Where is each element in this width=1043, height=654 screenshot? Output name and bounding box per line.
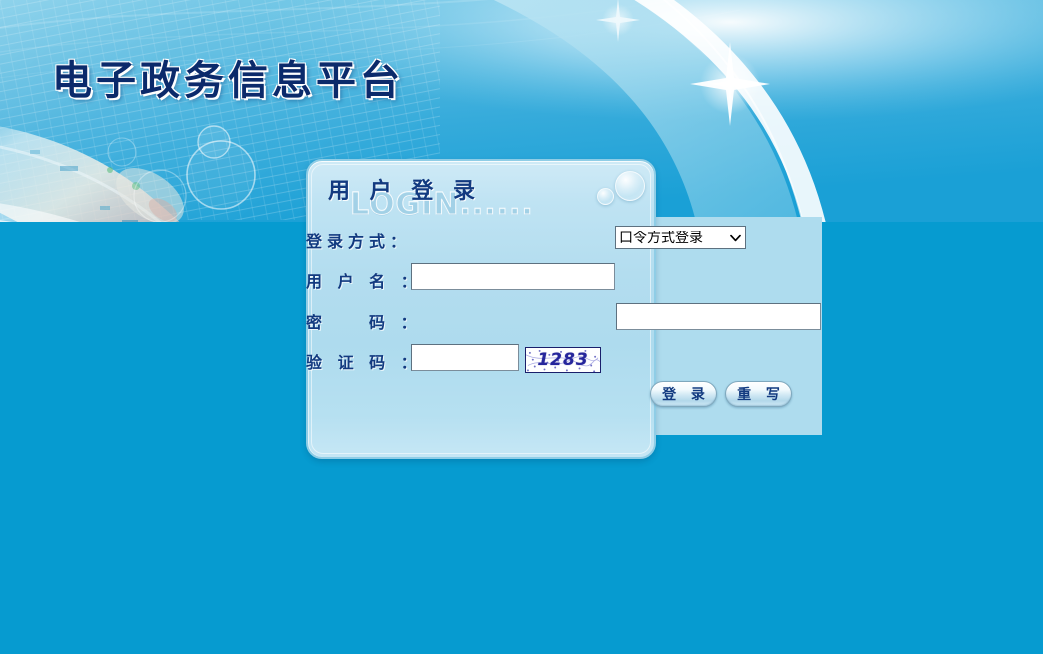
login-panel-title: 用 户 登 录 — [328, 173, 481, 205]
captcha-text: 1283 — [526, 348, 600, 372]
captcha-image[interactable]: 1283 — [525, 347, 601, 373]
page-title: 电子政务信息平台 — [52, 48, 404, 106]
login-panel-title-group: LOGIN...... 用 户 登 录 — [322, 171, 582, 219]
login-method-selected-value: 口令方式登录 — [619, 231, 729, 245]
bubble-icon-large — [615, 171, 645, 201]
login-method-select[interactable]: 口令方式登录 — [615, 226, 746, 249]
login-button[interactable]: 登 录 — [650, 381, 717, 407]
username-label: 用 户 名 ： — [306, 268, 422, 292]
chevron-down-icon — [729, 231, 742, 244]
captcha-input[interactable] — [411, 344, 519, 371]
captcha-label: 验 证 码 ： — [306, 349, 422, 373]
login-method-label: 登录方式： — [306, 228, 411, 252]
bubble-icon-small — [597, 188, 614, 205]
password-label: 密 码 ： — [306, 309, 422, 333]
username-input[interactable] — [411, 263, 615, 290]
reset-button[interactable]: 重 写 — [725, 381, 792, 407]
password-input[interactable] — [616, 303, 821, 330]
